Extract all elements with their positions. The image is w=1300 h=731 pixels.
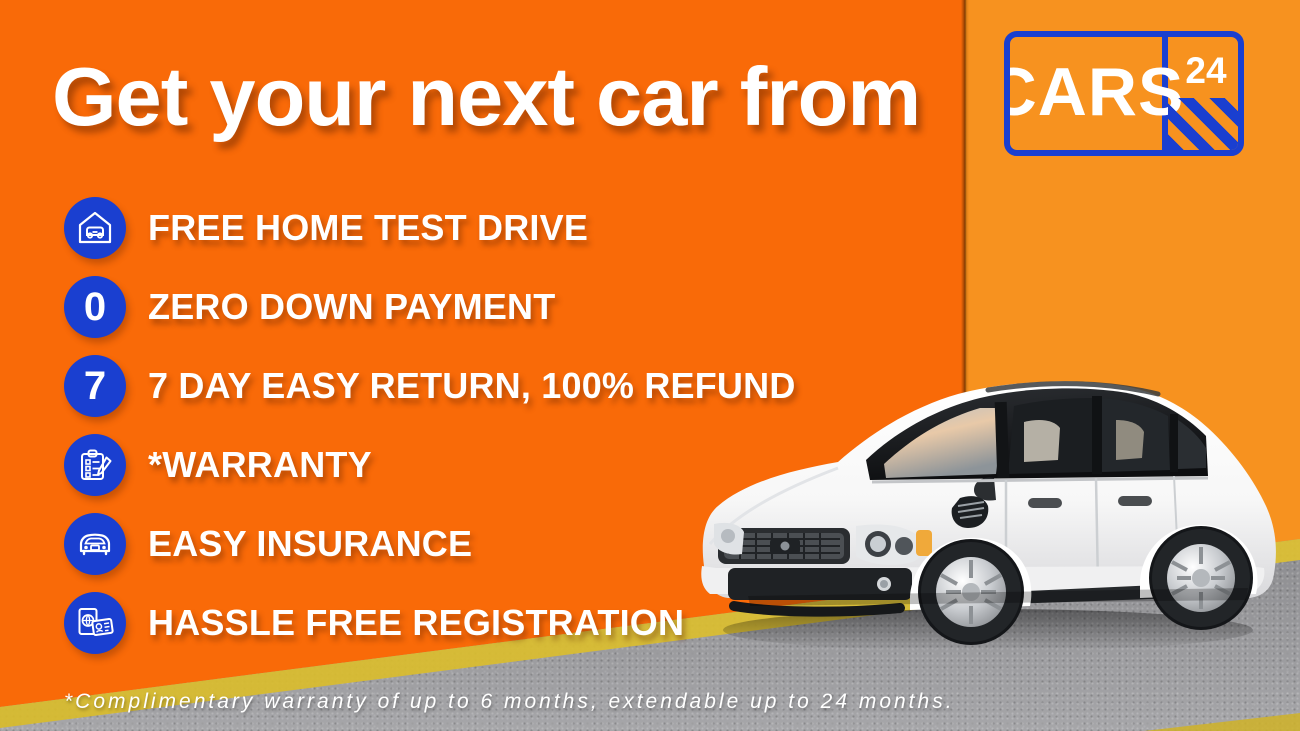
logo-number: 24 — [1168, 45, 1244, 97]
zero-badge-text: 0 — [84, 287, 106, 327]
seven-badge-text: 7 — [84, 366, 106, 406]
feature-label: HASSLE FREE REGISTRATION — [148, 602, 684, 644]
logo-wordmark: CARS — [1010, 37, 1162, 150]
feature-item-easy-insurance: EASY INSURANCE — [64, 512, 796, 575]
seven-badge-icon: 7 — [64, 355, 126, 417]
clipboard-pen-icon — [64, 434, 126, 496]
feature-item-zero-down-payment: 0 ZERO DOWN PAYMENT — [64, 275, 796, 338]
documents-id-icon — [64, 592, 126, 654]
feature-item-free-home-test-drive: FREE HOME TEST DRIVE — [64, 196, 796, 259]
zero-badge-icon: 0 — [64, 276, 126, 338]
warranty-footnote: *Complimentary warranty of up to 6 month… — [64, 690, 955, 714]
feature-label: ZERO DOWN PAYMENT — [148, 286, 555, 328]
banner-canvas: Get your next car from CARS 24 FREE HOME… — [0, 0, 1300, 731]
feature-label: EASY INSURANCE — [148, 523, 472, 565]
page-title: Get your next car from — [52, 55, 920, 138]
cars24-logo[interactable]: CARS 24 — [1004, 31, 1244, 156]
car-front-icon — [64, 513, 126, 575]
feature-label: 7 DAY EASY RETURN, 100% REFUND — [148, 365, 796, 407]
logo-stripes-icon — [1168, 98, 1244, 150]
feature-item-hassle-free-registration: HASSLE FREE REGISTRATION — [64, 591, 796, 654]
feature-label: FREE HOME TEST DRIVE — [148, 207, 588, 249]
feature-label: *WARRANTY — [148, 444, 372, 486]
home-car-icon — [64, 197, 126, 259]
feature-item-7-day-easy-return: 7 7 DAY EASY RETURN, 100% REFUND — [64, 354, 796, 417]
feature-item-warranty: *WARRANTY — [64, 433, 796, 496]
feature-list: FREE HOME TEST DRIVE 0 ZERO DOWN PAYMENT… — [64, 196, 796, 670]
